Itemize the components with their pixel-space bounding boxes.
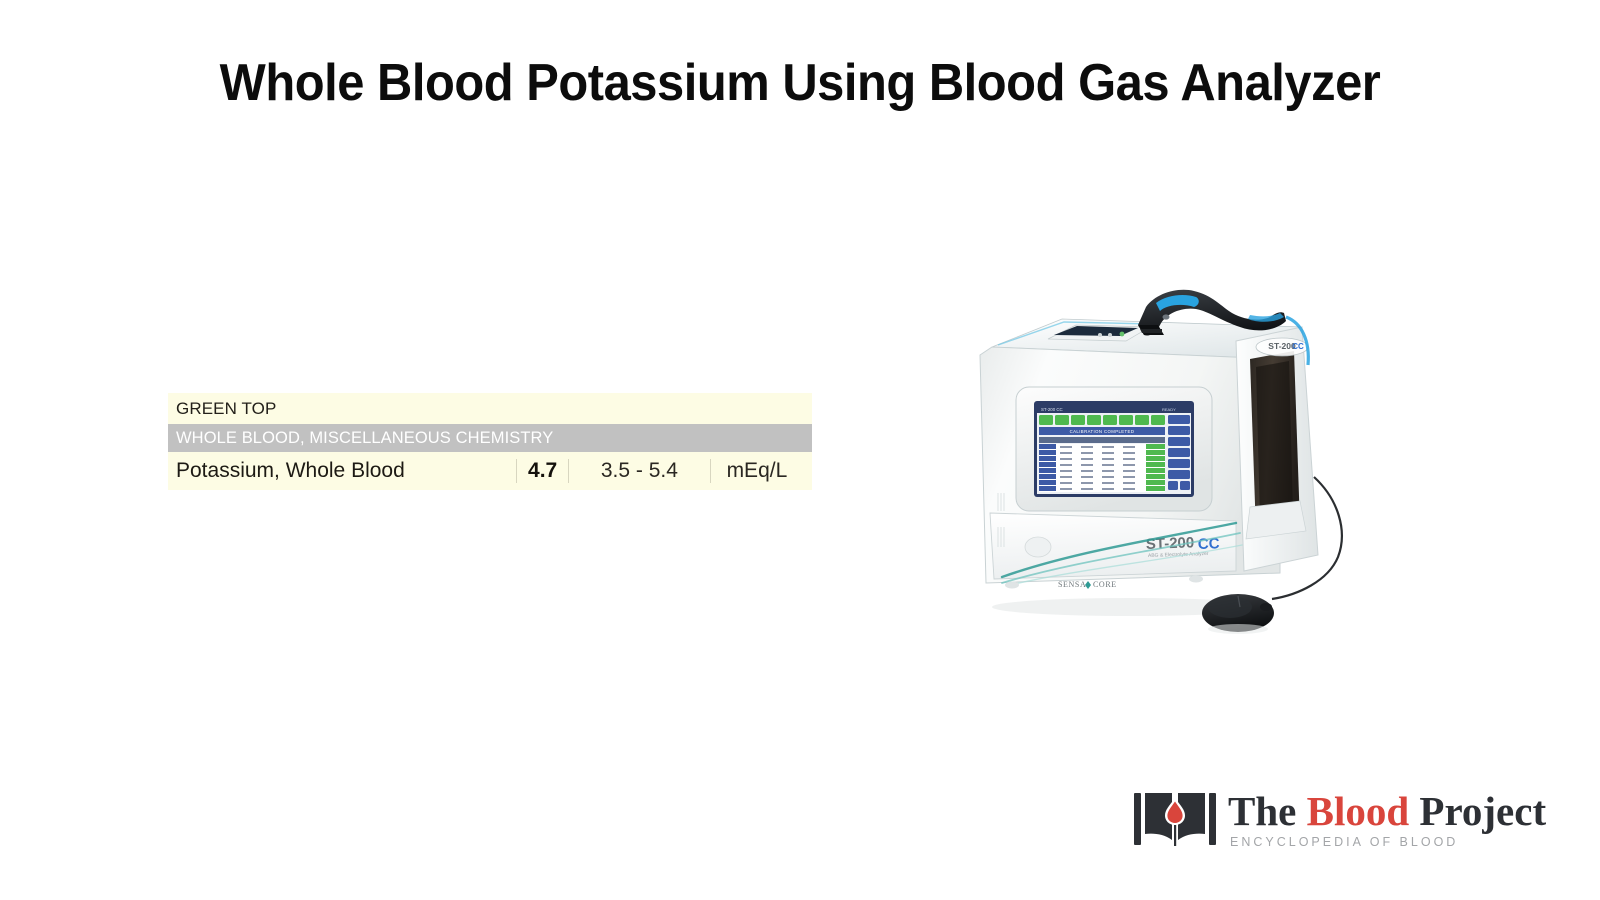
analyzer-touchscreen[interactable]: ST-200 CC READY CALIBRATION COMPLETED [1034,401,1194,497]
table-row-tube-type: GREEN TOP [168,393,812,424]
site-logo[interactable]: The Blood Project ENCYCLOPEDIA OF BLOOD [1134,790,1514,856]
svg-text:ST-200 CC: ST-200 CC [1041,407,1063,412]
table-row: Potassium, Whole Blood 4.7 3.5 - 5.4 mEq… [168,452,812,490]
logo-word-the: The [1228,788,1307,834]
logo-word-blood: Blood [1307,788,1410,834]
result-value: 4.7 [516,459,568,483]
svg-text:SENSA: SENSA [1058,580,1086,589]
section-header-label: WHOLE BLOOD, MISCELLANEOUS CHEMISTRY [168,429,553,448]
blood-gas-analyzer-image: ST-200 CC ST-200 CC READY CALIBRATION CO… [950,255,1370,655]
open-book-blood-drop-icon [1134,790,1216,850]
analyte-name: Potassium, Whole Blood [168,459,516,483]
result-units: mEq/L [710,459,812,483]
analyzer-foot-right [1189,576,1203,583]
analyzer-foot-left [1005,582,1019,589]
svg-text:READY: READY [1162,407,1176,412]
logo-wordmark: The Blood Project [1228,788,1546,834]
logo-tagline: ENCYCLOPEDIA OF BLOOD [1228,834,1546,850]
analyzer-brand-logo: SENSA CORE [1058,580,1117,589]
analyzer-front-knob[interactable] [1025,537,1051,557]
reference-range: 3.5 - 5.4 [568,459,709,483]
page-title: Whole Blood Potassium Using Blood Gas An… [48,52,1552,114]
tube-type-label: GREEN TOP [168,399,276,419]
svg-text:CORE: CORE [1093,580,1117,589]
model-badge: ST-200 CC [1256,338,1308,356]
table-section-header: WHOLE BLOOD, MISCELLANEOUS CHEMISTRY [168,424,812,452]
svg-text:CC: CC [1292,342,1304,351]
svg-text:CALIBRATION COMPLETED: CALIBRATION COMPLETED [1070,429,1135,434]
screen-table-header [1039,437,1165,443]
lab-report-table: GREEN TOP WHOLE BLOOD, MISCELLANEOUS CHE… [168,393,812,490]
logo-word-project: Project [1409,788,1546,834]
screen-side-menu[interactable] [1168,415,1190,490]
computer-mouse[interactable] [1202,594,1274,634]
